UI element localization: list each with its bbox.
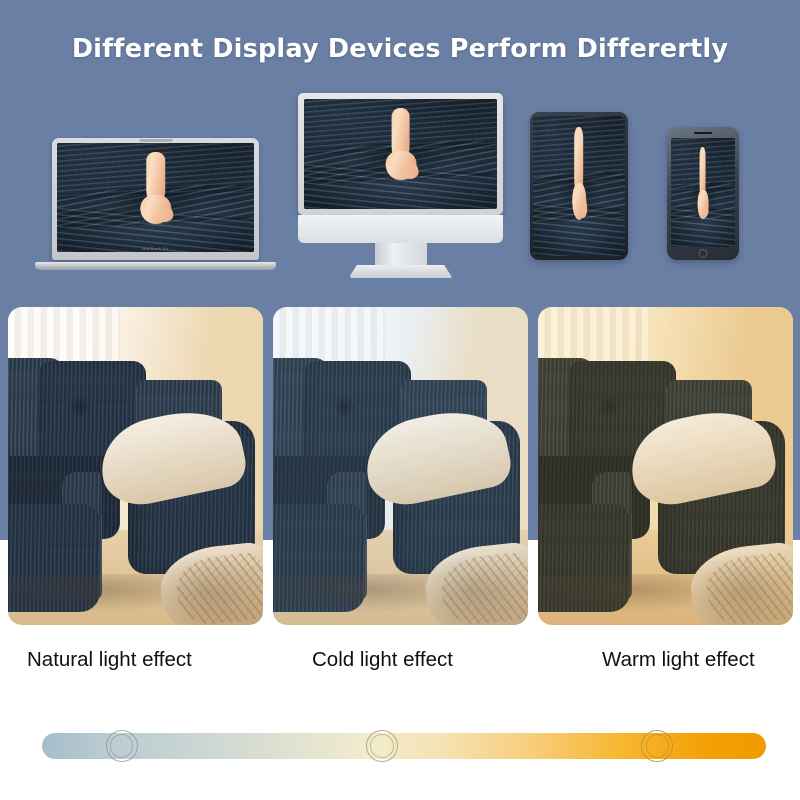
sofa-card-cold <box>273 307 528 625</box>
laptop-brand-text: MacBook Air <box>142 247 168 251</box>
foot-photo-subject <box>384 108 417 181</box>
tablet-icon <box>530 112 628 260</box>
laptop-screen <box>57 143 254 252</box>
light-tone-overlay <box>538 307 793 625</box>
sofa-foot-photo <box>671 138 735 247</box>
foot-photo-subject <box>571 127 587 219</box>
laptop-lid: MacBook Air <box>52 138 259 260</box>
phone-screen <box>671 138 735 247</box>
laptop-icon: MacBook Air <box>52 138 259 270</box>
color-temperature-slider[interactable] <box>0 724 800 766</box>
lighting-comparison-row <box>0 307 800 625</box>
tablet-screen <box>533 116 625 256</box>
product-infographic-page: Different Display Devices Perform Differ… <box>0 0 800 800</box>
slider-handle-natural[interactable] <box>106 730 138 762</box>
phone-home-button <box>699 249 708 258</box>
page-title: Different Display Devices Perform Differ… <box>0 34 800 64</box>
monitor-stand-neck <box>375 243 427 268</box>
sofa-card-natural <box>8 307 263 625</box>
monitor-chin <box>298 215 503 243</box>
desktop-monitor-icon <box>298 93 503 283</box>
label-natural-light: Natural light effect <box>27 648 192 672</box>
label-row: Natural light effect Cold light effect W… <box>0 648 800 684</box>
toe-shape <box>580 196 587 218</box>
sofa-foot-photo <box>533 116 625 256</box>
light-tone-overlay <box>8 307 263 625</box>
sofa-foot-photo <box>57 143 254 252</box>
phone-frame <box>667 127 739 260</box>
monitor-stand-base <box>349 265 453 278</box>
light-tone-overlay <box>273 307 528 625</box>
label-cold-light: Cold light effect <box>312 648 453 672</box>
monitor-screen <box>304 99 497 209</box>
sofa-foot-photo <box>304 99 497 209</box>
foot-photo-subject <box>139 152 172 224</box>
sofa-card-warm <box>538 307 793 625</box>
phone-speaker-grill <box>694 132 712 134</box>
label-warm-light: Warm light effect <box>602 648 755 672</box>
laptop-base <box>35 262 276 270</box>
monitor-bezel <box>298 93 503 215</box>
device-row: MacBook Air <box>0 85 800 285</box>
laptop-camera-notch <box>139 139 173 142</box>
smartphone-icon <box>667 127 739 260</box>
tablet-frame <box>530 112 628 260</box>
foot-photo-subject <box>698 147 709 219</box>
toe-shape <box>158 205 173 222</box>
